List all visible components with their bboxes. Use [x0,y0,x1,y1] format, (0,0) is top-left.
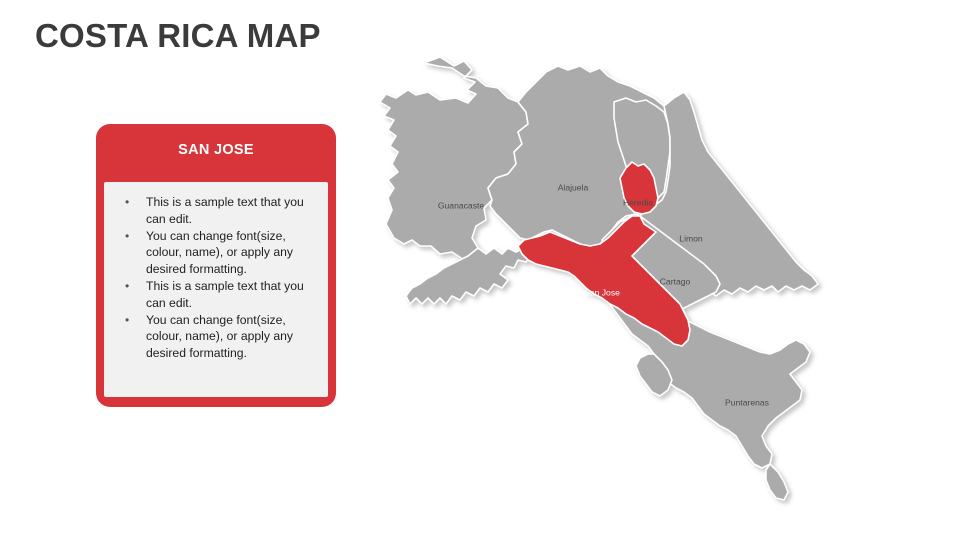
bullet-icon: • [125,278,129,295]
card-body-panel: • This is a sample text that you can edi… [104,182,328,397]
bullet-icon: • [125,228,129,245]
list-item-text: You can change font(size, colour, name),… [146,313,293,361]
map-label-guanacaste: Guanacaste [438,200,485,210]
page-title: COSTA RICA MAP [35,17,321,55]
province-southeast-tail[interactable] [766,464,788,500]
map-label-limon: Limon [679,233,703,243]
costa-rica-map: Guanacaste Alajuela Heredia Limon San Jo… [368,48,858,508]
map-svg: Guanacaste Alajuela Heredia Limon San Jo… [368,48,858,508]
list-item: • You can change font(size, colour, name… [110,312,318,362]
map-label-cartago: Cartago [660,276,691,286]
list-item: • This is a sample text that you can edi… [110,278,318,312]
list-item: • You can change font(size, colour, name… [110,228,318,278]
province-nicoya-peninsula[interactable] [406,248,532,304]
list-item: • This is a sample text that you can edi… [110,194,318,228]
map-label-puntarenas: Puntarenas [725,397,769,407]
bullet-icon: • [125,312,129,329]
list-item-text: This is a sample text that you can edit. [146,195,304,226]
list-item-text: This is a sample text that you can edit. [146,279,304,310]
list-item-text: You can change font(size, colour, name),… [146,229,293,277]
bullet-icon: • [125,194,129,211]
province-guanacaste[interactable] [380,57,528,260]
province-info-card: SAN JOSE • This is a sample text that yo… [96,124,336,407]
map-provinces-group: Guanacaste Alajuela Heredia Limon San Jo… [380,57,818,500]
map-label-heredia: Heredia [623,197,653,207]
map-label-san-jose: San Jose [584,287,620,297]
card-header-title: SAN JOSE [178,142,254,158]
card-header: SAN JOSE [96,124,336,175]
bullet-list: • This is a sample text that you can edi… [110,194,318,362]
map-label-alajuela: Alajuela [558,182,589,192]
